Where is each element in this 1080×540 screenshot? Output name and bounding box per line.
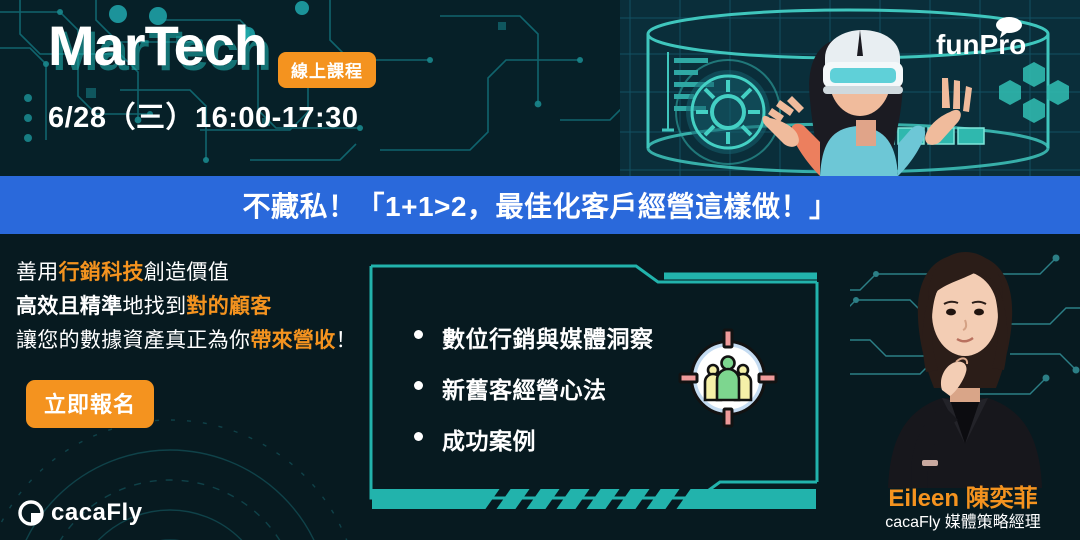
cacafly-logo-text: cacaFly (51, 501, 143, 525)
speaker-role: cacaFly 媒體策略經理 (850, 508, 1076, 532)
list-item: 新舊客經營心法 (410, 371, 700, 405)
copy-line-2: 高效且精準地找到對的顧客 (16, 290, 368, 324)
speaker-block: Eileen 陳奕菲 cacaFly 媒體策略經理 (850, 234, 1080, 540)
page-title: MarTech (48, 18, 267, 74)
copy-line-2-bold: 高效且精準 (16, 295, 123, 318)
agenda-list: 數位行銷與媒體洞察 新舊客經營心法 成功案例 (410, 320, 700, 473)
title-block: MarTech (48, 18, 267, 74)
copy-line-1-highlight: 行銷科技 (59, 261, 144, 284)
svg-text:funPro: funPro (936, 29, 1026, 58)
event-datetime: 6/28（三）16:00-17:30 (48, 94, 358, 136)
cacafly-logo[interactable]: cacaFly (18, 500, 143, 526)
event-poster: MarTech 線上課程 6/28（三）16:00-17:30 funPro 不… (0, 0, 1080, 540)
header-section: MarTech 線上課程 6/28（三）16:00-17:30 funPro (0, 0, 1080, 176)
copy-line-2-highlight: 對的顧客 (186, 295, 271, 318)
headline-text: 不藏私！「1+1>2，最佳化客戶經營這樣做！」 (243, 185, 838, 225)
register-now-button[interactable]: 立即報名 (26, 380, 154, 428)
audience-target-icon (678, 328, 778, 428)
copy-line-1: 善用行銷科技創造價值 (16, 256, 368, 290)
copy-line-3: 讓您的數據資產真正為你帶來營收！ (16, 324, 368, 358)
copy-line-3-post: ！ (336, 329, 357, 352)
copy-line-1-pre: 善用 (16, 261, 59, 284)
funpro-logo[interactable]: funPro (934, 16, 1052, 63)
copy-line-1-post: 創造價值 (144, 261, 229, 284)
striped-accent-bar (368, 486, 820, 512)
copy-line-3-highlight: 帶來營收 (250, 329, 335, 352)
speech-bubble-icon: funPro (934, 16, 1052, 58)
copy-line-2-mid: 地找到 (123, 295, 187, 318)
status-badge-online-course: 線上課程 (278, 52, 376, 88)
cacafly-circle-icon (18, 500, 44, 526)
list-item: 成功案例 (410, 422, 700, 456)
copy-line-3-pre: 讓您的數據資產真正為你 (16, 329, 250, 352)
agenda-frame: 數位行銷與媒體洞察 新舊客經營心法 成功案例 (368, 252, 820, 514)
avatar (872, 238, 1058, 488)
marketing-copy: 善用行銷科技創造價值 高效且精準地找到對的顧客 讓您的數據資產真正為你帶來營收！… (16, 256, 368, 428)
body-section: 善用行銷科技創造價值 高效且精準地找到對的顧客 讓您的數據資產真正為你帶來營收！… (0, 234, 1080, 540)
headline-banner: 不藏私！「1+1>2，最佳化客戶經營這樣做！」 (0, 176, 1080, 234)
list-item: 數位行銷與媒體洞察 (410, 320, 700, 354)
